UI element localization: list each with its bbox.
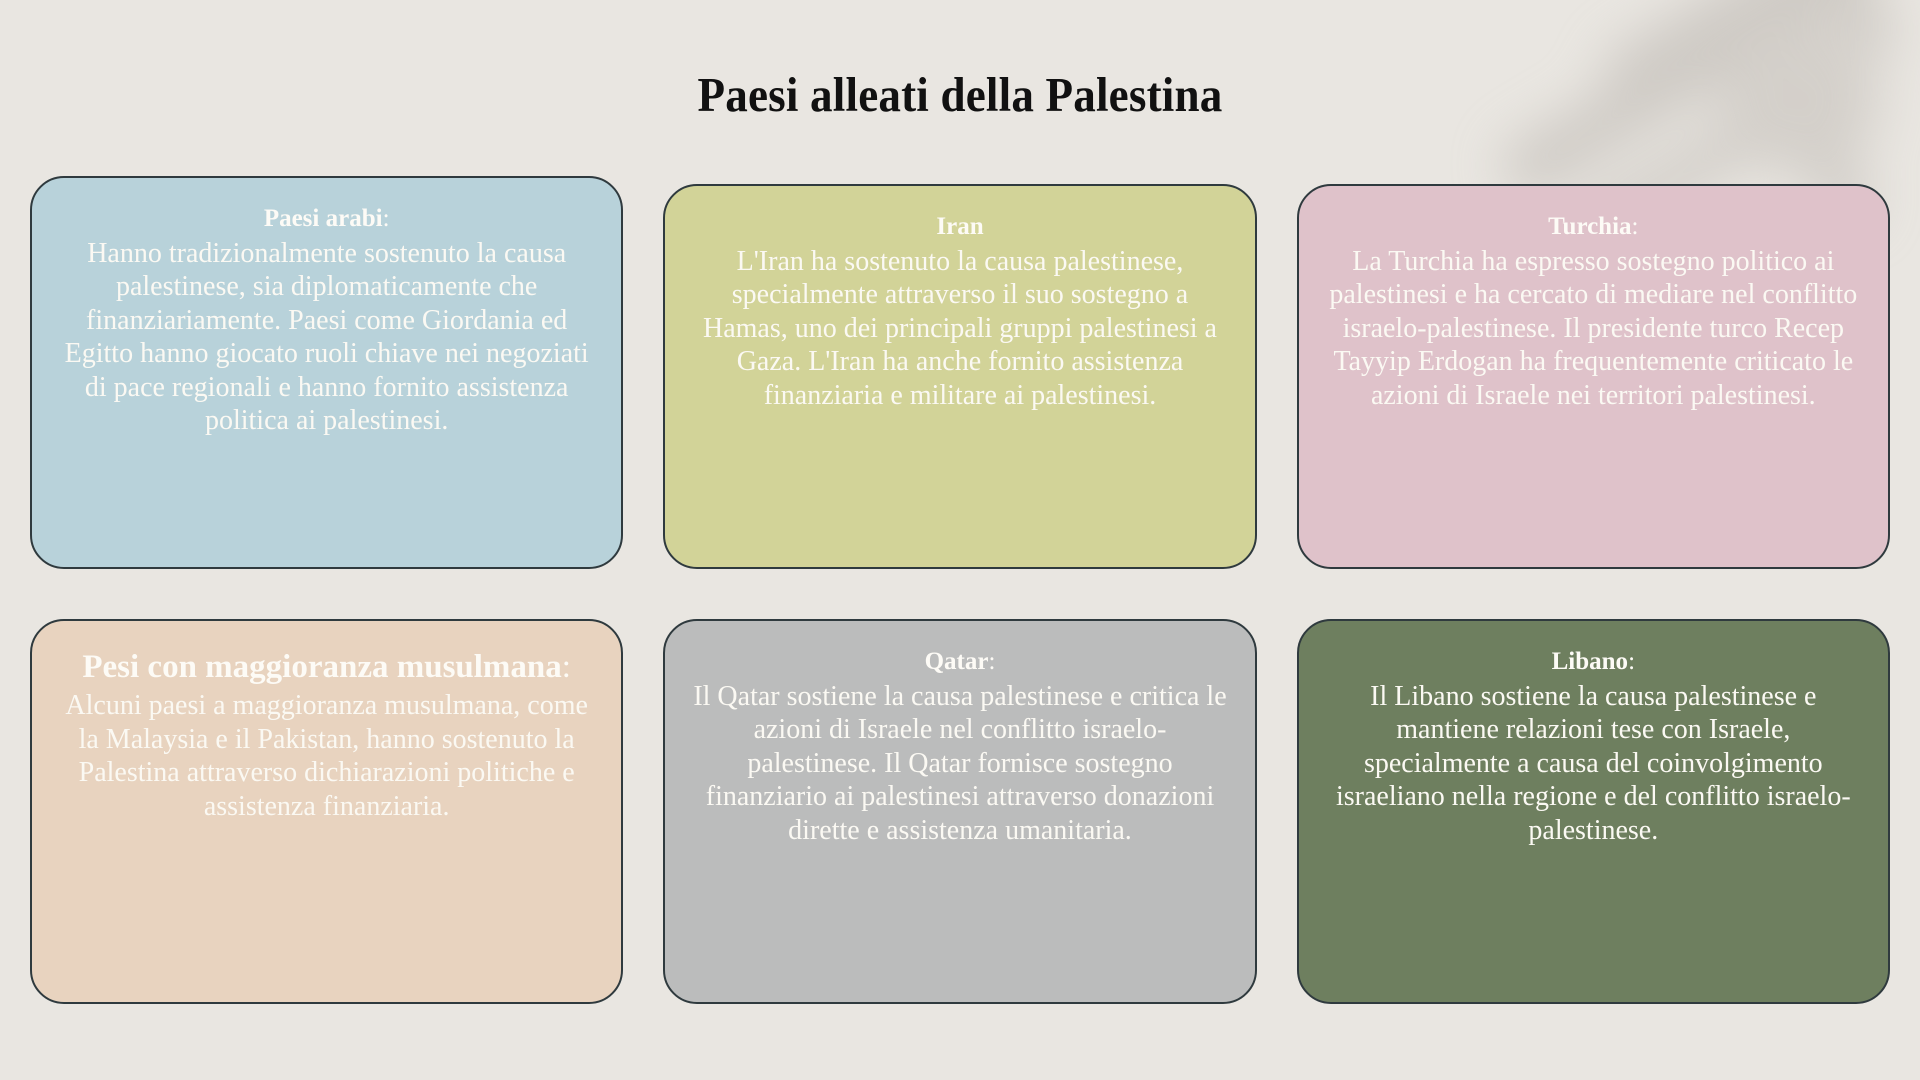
card-body: Il Qatar sostiene la causa palestinese e… — [693, 680, 1226, 848]
card-grid: Paesi arabi: Hanno tradizionalmente sost… — [30, 184, 1890, 1004]
card-heading-colon: : — [1632, 213, 1639, 240]
card-paesi-arabi[interactable]: Paesi arabi: Hanno tradizionalmente sost… — [30, 176, 623, 569]
card-heading-text: Turchia — [1548, 213, 1631, 240]
card-body: L'Iran ha sostenuto la causa palestinese… — [693, 245, 1226, 413]
card-libano[interactable]: Libano: Il Libano sostiene la causa pale… — [1297, 619, 1890, 1004]
page-title: Paesi alleati della Palestina — [77, 0, 1843, 122]
card-paesi-maggioranza-musulmana[interactable]: Pesi con maggioranza musulmana: Alcuni p… — [30, 619, 623, 1004]
card-heading-colon: : — [1628, 648, 1635, 675]
card-iran[interactable]: Iran L'Iran ha sostenuto la causa palest… — [663, 184, 1256, 569]
card-heading: Turchia: — [1327, 212, 1860, 243]
card-heading-colon: : — [988, 648, 995, 675]
card-body: La Turchia ha espresso sostegno politico… — [1327, 245, 1860, 413]
infographic-page: Paesi alleati della Palestina Paesi arab… — [0, 0, 1920, 1080]
card-heading: Paesi arabi: — [60, 204, 593, 235]
card-qatar[interactable]: Qatar: Il Qatar sostiene la causa palest… — [663, 619, 1256, 1004]
card-heading: Qatar: — [693, 647, 1226, 678]
card-heading-text: Iran — [936, 213, 983, 240]
card-heading: Iran — [693, 212, 1226, 243]
card-heading: Pesi con maggioranza musulmana: — [60, 647, 593, 687]
card-heading-colon: : — [383, 205, 390, 232]
card-body: Alcuni paesi a maggioranza musulmana, co… — [60, 689, 593, 823]
card-heading-text: Paesi arabi — [264, 205, 383, 232]
card-heading-text: Libano — [1552, 648, 1628, 675]
card-turchia[interactable]: Turchia: La Turchia ha espresso sostegno… — [1297, 184, 1890, 569]
card-heading-colon: : — [562, 649, 571, 685]
card-heading-text: Qatar — [925, 648, 989, 675]
card-body: Hanno tradizionalmente sostenuto la caus… — [60, 237, 593, 439]
card-heading-text: Pesi con maggioranza musulmana — [82, 649, 561, 685]
card-body: Il Libano sostiene la causa palestinese … — [1327, 680, 1860, 848]
card-heading: Libano: — [1327, 647, 1860, 678]
